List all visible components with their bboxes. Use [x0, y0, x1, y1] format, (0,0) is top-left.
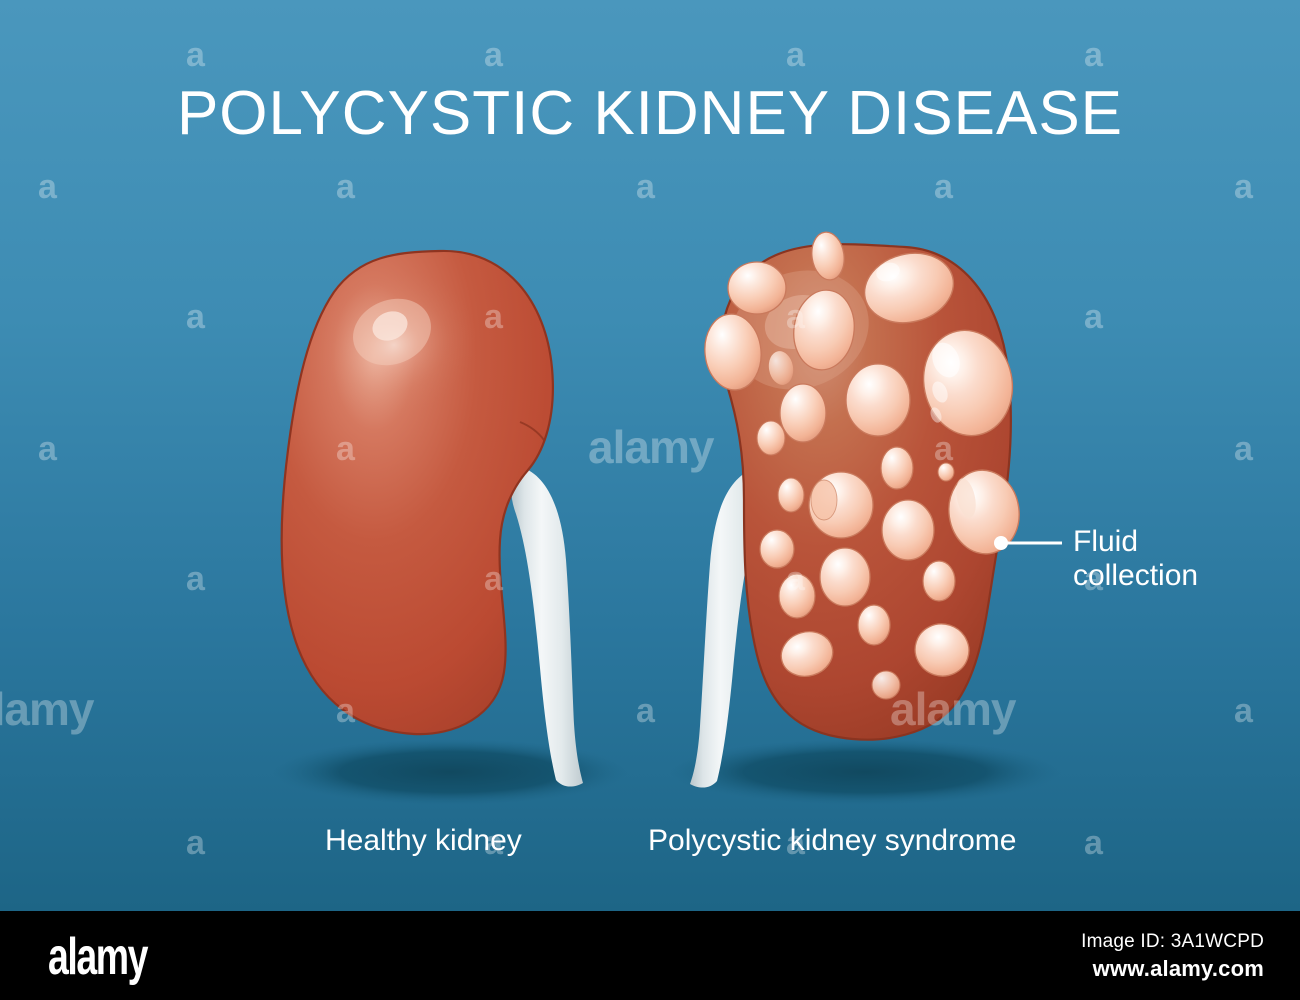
caption-healthy-kidney: Healthy kidney	[325, 824, 522, 858]
footer-meta: Image ID: 3A1WCPD www.alamy.com	[1081, 929, 1264, 983]
cyst	[757, 421, 785, 455]
illustration-area: POLYCYSTIC KIDNEY DISEASE Healthy kidney…	[0, 0, 1300, 911]
cyst	[858, 605, 890, 645]
cyst	[778, 478, 804, 512]
figure-canvas: POLYCYSTIC KIDNEY DISEASE Healthy kidney…	[0, 0, 1300, 1000]
cyst	[780, 384, 826, 442]
image-id-text: Image ID: 3A1WCPD	[1081, 929, 1264, 955]
alamy-url-text: www.alamy.com	[1081, 955, 1264, 983]
shadow-polycystic	[669, 739, 1061, 805]
cyst	[872, 671, 900, 699]
caption-polycystic-kidney: Polycystic kidney syndrome	[648, 824, 1016, 858]
annotation-line-1: Fluid	[1073, 525, 1198, 559]
cyst	[938, 463, 954, 481]
annotation-fluid-collection: Fluid collection	[1073, 525, 1198, 593]
alamy-footer-bar: alamy Image ID: 3A1WCPD www.alamy.com	[0, 911, 1300, 1000]
cyst-lobe	[811, 480, 837, 520]
cyst	[923, 561, 955, 601]
cyst	[846, 364, 910, 436]
cyst	[728, 262, 786, 314]
cyst	[779, 574, 815, 618]
annotation-leader-dot	[994, 536, 1008, 550]
cyst	[882, 500, 934, 560]
kidney-illustration-svg	[0, 0, 1300, 911]
alamy-logo: alamy	[48, 927, 147, 987]
cyst	[760, 530, 794, 568]
cyst	[820, 548, 870, 606]
cyst	[881, 447, 913, 489]
background-gradient	[0, 0, 1300, 911]
annotation-line-2: collection	[1073, 559, 1198, 593]
